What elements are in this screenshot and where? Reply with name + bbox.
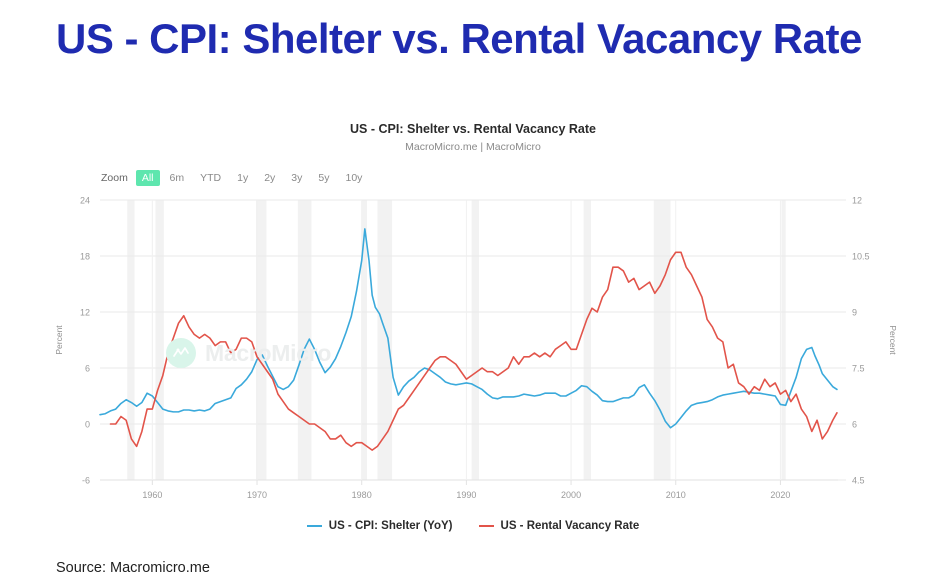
y-axis-left-title: Percent <box>54 325 64 355</box>
svg-text:1990: 1990 <box>456 490 476 500</box>
chart-attribution: MacroMicro.me | MacroMicro <box>48 141 898 153</box>
svg-text:0: 0 <box>85 420 90 430</box>
svg-text:10.5: 10.5 <box>852 252 870 262</box>
range-button-2y[interactable]: 2y <box>258 170 281 186</box>
svg-text:2010: 2010 <box>666 490 686 500</box>
x-axis-ticks: 1960197019801990200020102020 <box>142 480 790 500</box>
svg-text:6: 6 <box>85 364 90 374</box>
chart-svg[interactable]: -606121824 4.567.5910.512 19601970198019… <box>48 192 898 512</box>
svg-text:-6: -6 <box>82 476 90 486</box>
svg-text:18: 18 <box>80 252 90 262</box>
chart-card: US - CPI: Shelter vs. Rental Vacancy Rat… <box>48 120 898 550</box>
page-title: US - CPI: Shelter vs. Rental Vacancy Rat… <box>56 14 916 64</box>
recession-bands <box>127 200 785 480</box>
range-button-3y[interactable]: 3y <box>285 170 308 186</box>
plot-area[interactable]: -606121824 4.567.5910.512 19601970198019… <box>48 192 898 512</box>
svg-text:12: 12 <box>852 196 862 206</box>
y-axis-right-ticks: 4.567.5910.512 <box>838 196 870 486</box>
legend-item-rental-vacancy[interactable]: US - Rental Vacancy Rate <box>479 520 640 532</box>
chart-legend: US - CPI: Shelter (YoY) US - Rental Vaca… <box>48 520 898 532</box>
range-button-6m[interactable]: 6m <box>164 170 191 186</box>
svg-text:12: 12 <box>80 308 90 318</box>
y-axis-left-ticks: -606121824 <box>80 196 90 486</box>
range-button-5y[interactable]: 5y <box>312 170 335 186</box>
legend-label-cpi-shelter: US - CPI: Shelter (YoY) <box>329 520 453 532</box>
zoom-range-selector: Zoom All 6m YTD 1y 2y 3y 5y 10y <box>101 170 372 186</box>
y-axis-right-title: Percent <box>888 325 898 355</box>
svg-text:7.5: 7.5 <box>852 364 865 374</box>
legend-swatch-cpi-shelter <box>307 525 322 527</box>
svg-text:2000: 2000 <box>561 490 581 500</box>
svg-text:1970: 1970 <box>247 490 267 500</box>
range-button-all[interactable]: All <box>136 170 160 186</box>
svg-text:2020: 2020 <box>770 490 790 500</box>
svg-text:6: 6 <box>852 420 857 430</box>
svg-text:1980: 1980 <box>352 490 372 500</box>
source-note: Source: Macromicro.me <box>56 560 210 576</box>
svg-text:24: 24 <box>80 196 90 206</box>
chart-title: US - CPI: Shelter vs. Rental Vacancy Rat… <box>48 122 898 136</box>
svg-text:9: 9 <box>852 308 857 318</box>
series-lines <box>100 229 837 450</box>
range-button-10y[interactable]: 10y <box>339 170 368 186</box>
legend-item-cpi-shelter[interactable]: US - CPI: Shelter (YoY) <box>307 520 453 532</box>
range-button-1y[interactable]: 1y <box>231 170 254 186</box>
range-button-ytd[interactable]: YTD <box>194 170 227 186</box>
zoom-label: Zoom <box>101 172 128 184</box>
svg-text:4.5: 4.5 <box>852 476 865 486</box>
legend-swatch-rental-vacancy <box>479 525 494 527</box>
svg-text:1960: 1960 <box>142 490 162 500</box>
legend-label-rental-vacancy: US - Rental Vacancy Rate <box>501 520 640 532</box>
